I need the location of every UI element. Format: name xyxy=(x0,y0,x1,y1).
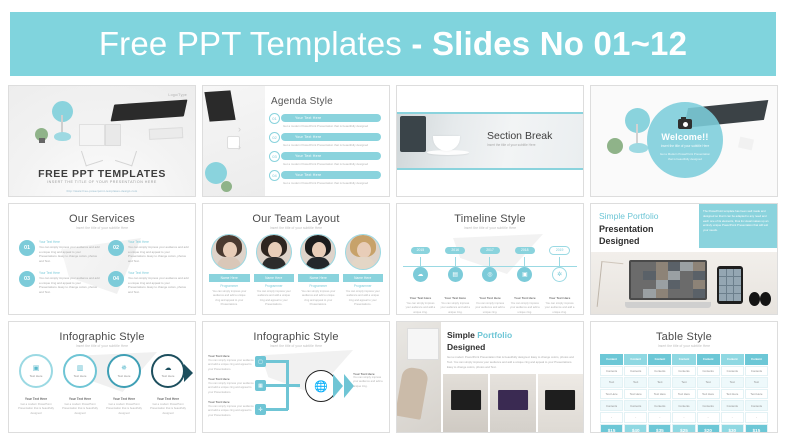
timeline-year: 2019 xyxy=(549,246,571,255)
coffee-machine-shape xyxy=(400,116,426,152)
agenda-label: Your Text Here xyxy=(281,133,381,141)
table-cell: Contents xyxy=(624,366,647,377)
infographic-label: Your Text Here xyxy=(147,397,189,401)
infographic-inner-text: Text Here xyxy=(74,374,87,378)
slide-title: Our Services xyxy=(9,213,195,225)
laptop-shape xyxy=(625,260,711,308)
table-price-cell: $15 Contents xyxy=(745,424,768,433)
service-number: 02 xyxy=(108,240,124,256)
agenda-number: 01 xyxy=(269,113,280,124)
cover-url: http://www.free-powerpoint-templates-des… xyxy=(9,189,195,193)
table-header-cell: Content xyxy=(672,354,695,365)
table-price-cell: $35 Contents xyxy=(648,424,671,433)
welcome-circle: Welcome!! Insert the title of your subti… xyxy=(647,102,723,178)
table-cell: Text xyxy=(697,377,720,388)
portfolio-thumb[interactable] xyxy=(490,374,535,432)
table-cell: Contents xyxy=(721,400,744,411)
portfolio-desc: Get a modern PowerPoint Presentation tha… xyxy=(447,355,577,369)
branch-desc: You can simply impress your audience and… xyxy=(208,405,256,418)
table-header-cell: Content xyxy=(745,354,768,365)
slide-title: Our Team Layout xyxy=(203,213,389,225)
timeline-stem xyxy=(420,257,421,267)
connector xyxy=(286,386,289,410)
timeline-label: Your Text Here xyxy=(542,296,577,300)
connector xyxy=(286,360,289,386)
infographic-item[interactable]: ✵ Text Here Your Text Here Get a modern … xyxy=(103,354,145,416)
table-cell: - xyxy=(672,412,695,423)
slide-thumbnail-welcome[interactable]: Welcome!! Insert the title of your subti… xyxy=(590,85,778,197)
timeline-stem xyxy=(559,257,560,267)
avatar xyxy=(256,234,292,270)
timeline-steps: 2015 ☁ Your Text Here You can simply imp… xyxy=(403,238,577,315)
member-desc: You can simply impress your audience and… xyxy=(254,290,295,307)
table-cell: Contents xyxy=(721,366,744,377)
chevron-right-icon: › xyxy=(238,124,241,134)
slide-thumbnail-our-services[interactable]: Our Services Insert the title of your su… xyxy=(8,203,196,315)
agenda-row[interactable]: Your Text Here 01 Get a modern PowerPoin… xyxy=(269,114,383,133)
timeline-desc: You can simply impress your audience and… xyxy=(403,302,438,315)
briefcase-icon: ▤ xyxy=(448,267,463,282)
table-cell: Contents xyxy=(745,366,768,377)
team-member[interactable]: Name Here Programmer You can simply impr… xyxy=(298,234,339,307)
chevron-right-icon-2: › xyxy=(238,142,241,152)
node-icon-1: ▢ xyxy=(255,356,266,367)
branch-right-item[interactable]: Your Text Here You can simply impress yo… xyxy=(353,372,385,389)
table-cell: - xyxy=(624,412,647,423)
table-cell: - xyxy=(745,412,768,423)
desk-scene xyxy=(591,252,777,314)
timeline-step[interactable]: 2015 ☁ Your Text Here You can simply imp… xyxy=(403,238,438,315)
member-name: Name Here xyxy=(343,274,384,282)
timeline-desc: You can simply impress your audience and… xyxy=(542,302,577,315)
connector xyxy=(266,360,288,363)
agenda-label: Your Text Here xyxy=(281,152,381,160)
slide-thumbnail-simple-portfolio[interactable]: The PowerPoint template has been well ma… xyxy=(590,203,778,315)
table-cell: Text Here xyxy=(721,389,744,400)
branch-decor xyxy=(597,261,624,309)
cloud-icon: ☁ xyxy=(165,365,172,372)
laptop-shape xyxy=(407,328,439,360)
table-cell: Contents xyxy=(624,400,647,411)
agenda-number: 03 xyxy=(269,151,280,162)
portfolio-thumb[interactable] xyxy=(443,374,488,432)
member-desc: You can simply impress your audience and… xyxy=(298,290,339,307)
timeline-label: Your Text Here xyxy=(473,296,508,300)
table-cell: Contents xyxy=(697,400,720,411)
slide-header: Table Style Insert the title of your sub… xyxy=(591,331,777,348)
infographic-inner-text: Text Here xyxy=(30,374,43,378)
avatar-face xyxy=(268,242,282,258)
window-icon: ▣ xyxy=(33,365,40,372)
table-cell: Text Here xyxy=(672,389,695,400)
table-price-cell: $15 Contents xyxy=(600,424,623,433)
hands-photo xyxy=(397,322,441,432)
timeline-label: Your Text Here xyxy=(507,296,542,300)
avatar xyxy=(345,234,381,270)
table-header-cell: Content xyxy=(624,354,647,365)
team-members: Name Here Programmer You can simply impr… xyxy=(209,234,383,307)
table-cell: Text xyxy=(672,377,695,388)
infographic-ring: ☁ Text Here xyxy=(151,354,185,388)
table-cell: Contents xyxy=(600,366,623,377)
timeline-step[interactable]: 2016 ▤ Your Text Here You can simply imp… xyxy=(438,238,473,315)
services-grid: 01 Your Text Here You can simply impress… xyxy=(19,240,189,294)
branch-item[interactable]: Your Text Here You can simply impress yo… xyxy=(208,354,256,372)
table-price-cell: $40 Contents xyxy=(624,424,647,433)
service-number: 01 xyxy=(19,240,35,256)
cloud-icon: ☁ xyxy=(413,267,428,282)
portfolio-title-line2: Designed xyxy=(447,342,485,352)
table-cell: - xyxy=(600,412,623,423)
agenda-row[interactable]: Your Text Here 02 Get a modern PowerPoin… xyxy=(269,133,383,152)
avatar-body xyxy=(217,257,241,269)
infographic-item[interactable]: ▥ Text Here Your Text Here Get a modern … xyxy=(59,354,101,416)
slide-title: Infographic Style xyxy=(9,331,195,343)
table-price-cell: $25 Contents xyxy=(672,424,695,433)
service-number: 04 xyxy=(108,271,124,287)
table-cell: Text Here xyxy=(697,389,720,400)
service-item[interactable]: 04 Your Text Here You can simply impress… xyxy=(108,271,189,294)
timeline-step[interactable]: 2018 ▣ Your Text Here You can simply imp… xyxy=(507,238,542,315)
table-cell: Text Here xyxy=(600,389,623,400)
plant-shape xyxy=(607,138,623,154)
table-cell: Text xyxy=(721,377,744,388)
agenda-desc: Get a modern PowerPoint Presentation tha… xyxy=(283,124,368,128)
agenda-number: 04 xyxy=(269,170,280,181)
plant-pot-shape xyxy=(39,138,45,143)
gear-icon: ✲ xyxy=(552,267,567,282)
table-price-cell: $20 Contents xyxy=(697,424,720,433)
portfolio-thumbnails xyxy=(443,374,583,432)
avatar xyxy=(300,234,336,270)
table-cell: Text Here xyxy=(624,389,647,400)
infographic-circle-row: ▣ Text Here Your Text Here Get a modern … xyxy=(15,354,189,416)
timeline-desc: You can simply impress your audience and… xyxy=(507,302,542,315)
welcome-desc: Get a Modern PowerPoint Presentation tha… xyxy=(658,152,712,161)
slides-grid: Logo/Type FREE PPT TEMPLATES INSERT THE … xyxy=(8,85,778,437)
team-member[interactable]: Name Here Programmer You can simply impr… xyxy=(209,234,250,307)
avatar xyxy=(211,234,247,270)
service-desc: You can simply impress your audience and… xyxy=(128,276,189,294)
agenda-photo xyxy=(203,86,265,196)
table-cell: Contents xyxy=(648,400,671,411)
table-cell: Text Here xyxy=(648,389,671,400)
agenda-rows: Your Text Here 01 Get a modern PowerPoin… xyxy=(269,114,383,190)
agenda-label: Your Text Here xyxy=(281,171,381,179)
welcome-title: Welcome!! xyxy=(661,132,708,142)
slide-thumbnail-timeline[interactable]: Timeline Style Insert the title of your … xyxy=(396,203,584,315)
hand-shape xyxy=(396,366,429,420)
table-cell: Contents xyxy=(672,366,695,377)
table-price-cell: $30 Contents xyxy=(721,424,744,433)
branch-left-items: Your Text Here You can simply impress yo… xyxy=(208,354,256,423)
slide-thumbnail-table-style[interactable]: Table Style Insert the title of your sub… xyxy=(590,321,778,433)
member-role: Programmer xyxy=(298,284,339,288)
node-icon-3: ✢ xyxy=(255,404,266,415)
infographic-item[interactable]: ☁ Text Here Your Text Here Get a modern … xyxy=(147,354,189,416)
infographic-ring: ▥ Text Here xyxy=(63,354,97,388)
notebook-shape xyxy=(79,124,105,146)
timeline-year: 2015 xyxy=(411,247,431,254)
timeline-step[interactable]: 2017 ◎ Your Text Here You can simply imp… xyxy=(473,238,508,315)
slide-thumbnail-section-break[interactable]: Section Break Insert the title of your s… xyxy=(396,85,584,197)
camera-icon xyxy=(678,119,692,129)
slide-subtitle: Insert the title of your subtitle Here xyxy=(9,226,195,230)
slide-thumbnail-team-layout[interactable]: Our Team Layout Insert the title of your… xyxy=(202,203,390,315)
table-cell: Text xyxy=(648,377,671,388)
binoculars-shape xyxy=(749,292,771,306)
avatar-body xyxy=(262,257,286,269)
welcome-subtitle: Insert the title of your subtitle Here xyxy=(661,144,710,148)
screen-shape xyxy=(498,390,528,410)
agenda-desc: Get a modern PowerPoint Presentation tha… xyxy=(283,181,368,185)
tablet-shape xyxy=(717,266,743,304)
portfolio-thumb[interactable] xyxy=(538,374,583,432)
portfolio-title-plain: Simple xyxy=(447,330,477,340)
monitor-shape xyxy=(204,90,235,121)
lamp-base-shape xyxy=(629,143,648,153)
table-cell: Contents xyxy=(745,400,768,411)
table-cell: Text Here xyxy=(745,389,768,400)
monitor-icon: ▣ xyxy=(517,267,532,282)
slide-thumbnail-agenda[interactable]: › › Agenda Style Your Text Here 01 Get a… xyxy=(202,85,390,197)
branch-desc: You can simply impress your audience and… xyxy=(208,359,256,372)
timeline-stem xyxy=(489,257,490,267)
member-role: Programmer xyxy=(343,284,384,288)
branch-label: Your Text Here xyxy=(208,377,256,381)
slide-subtitle: Insert the title of your subtitle Here xyxy=(203,344,389,348)
globe-icon: 🌐 xyxy=(314,380,328,393)
service-label: Your Text Here xyxy=(128,240,189,244)
service-item[interactable]: 03 Your Text Here You can simply impress… xyxy=(19,271,100,294)
node-icon-2: ▦ xyxy=(255,380,266,391)
service-desc: You can simply impress your audience and… xyxy=(39,245,100,263)
panel-text: The PowerPoint template has been well ma… xyxy=(703,209,773,233)
target-icon: ◎ xyxy=(482,267,497,282)
banner-title: Free PPT Templates - Slides No 01~12 xyxy=(99,25,687,63)
service-item[interactable]: 02 Your Text Here You can simply impress… xyxy=(108,240,189,263)
slide-subtitle: Insert the title of your subtitle Here xyxy=(591,344,777,348)
portfolio-title-accent: Portfolio xyxy=(477,330,512,340)
branch-item[interactable]: Your Text Here You can simply impress yo… xyxy=(208,400,256,418)
agenda-label: Your Text Here xyxy=(281,114,381,122)
slide-subtitle: Insert the title of your subtitle Here xyxy=(9,344,195,348)
table-cell: Text xyxy=(745,377,768,388)
team-member[interactable]: Name Here Programmer You can simply impr… xyxy=(343,234,384,307)
service-item[interactable]: 01 Your Text Here You can simply impress… xyxy=(19,240,100,263)
table-cell: - xyxy=(721,412,744,423)
slide-title: Timeline Style xyxy=(397,213,583,225)
infographic-ring: ✵ Text Here xyxy=(107,354,141,388)
team-member[interactable]: Name Here Programmer You can simply impr… xyxy=(254,234,295,307)
tablet-screen xyxy=(719,269,741,301)
agenda-number: 02 xyxy=(269,132,280,143)
plant-shape xyxy=(221,181,232,192)
infographic-ring: ▣ Text Here xyxy=(19,354,53,388)
timeline-stem xyxy=(524,257,525,267)
portfolio-title-line3: Designed xyxy=(599,236,640,246)
notebook-shape-2 xyxy=(105,124,121,146)
slide-title: Section Break xyxy=(487,130,552,142)
agenda-desc: Get a modern PowerPoint Presentation tha… xyxy=(283,162,368,166)
paper-shape xyxy=(738,137,754,151)
connector xyxy=(266,408,288,411)
branch-label: Your Text Here xyxy=(208,354,256,358)
portfolio-title-line2: Presentation xyxy=(599,224,654,234)
table-header-cell: Content xyxy=(648,354,671,365)
slide-header: Infographic Style Insert the title of yo… xyxy=(203,331,389,348)
branch-label: Your Text Here xyxy=(208,400,256,404)
infographic-desc: Get a modern PowerPoint Presentation tha… xyxy=(147,403,189,416)
cover-subtitle: INSERT THE TITLE OF YOUR PRESENTATION HE… xyxy=(9,180,195,184)
table-header-cell: Content xyxy=(600,354,623,365)
columns-icon: ▥ xyxy=(77,365,84,372)
pricing-table: Content Content Content Content Content … xyxy=(600,354,768,433)
infographic-label: Your Text Here xyxy=(15,397,57,401)
service-label: Your Text Here xyxy=(128,271,189,275)
timeline-year: 2017 xyxy=(480,247,500,254)
screen-shape xyxy=(451,390,481,410)
slide-header: Our Team Layout Insert the title of your… xyxy=(203,213,389,230)
portfolio-title-line1: Simple Portfolio xyxy=(447,330,512,340)
slide-subtitle: Insert the title of your subtitle Here xyxy=(203,226,389,230)
slide-header: Timeline Style Insert the title of your … xyxy=(397,213,583,230)
member-desc: You can simply impress your audience and… xyxy=(209,290,250,307)
header-banner: Free PPT Templates - Slides No 01~12 xyxy=(10,12,776,76)
agenda-row[interactable]: Your Text Here 04 Get a modern PowerPoin… xyxy=(269,171,383,190)
cover-title: FREE PPT TEMPLATES xyxy=(9,168,195,180)
table-header-cell: Content xyxy=(721,354,744,365)
atom-icon: ✵ xyxy=(121,365,127,372)
timeline-label: Your Text Here xyxy=(438,296,473,300)
infographic-inner-text: Text Here xyxy=(118,374,131,378)
service-desc: You can simply impress your audience and… xyxy=(128,245,189,263)
table-cell: - xyxy=(648,412,671,423)
table-cell: Contents xyxy=(600,400,623,411)
infographic-item[interactable]: ▣ Text Here Your Text Here Get a modern … xyxy=(15,354,57,416)
table-cell: Contents xyxy=(697,366,720,377)
portfolio-title-accent: Simple Portfolio xyxy=(599,211,659,221)
branch-item[interactable]: Your Text Here You can simply impress yo… xyxy=(208,377,256,395)
avatar-body xyxy=(306,257,330,269)
agenda-row[interactable]: Your Text Here 03 Get a modern PowerPoin… xyxy=(269,152,383,171)
avatar-body xyxy=(351,257,375,269)
infographic-label: Your Text Here xyxy=(103,397,145,401)
slide-thumbnail-cover[interactable]: Logo/Type FREE PPT TEMPLATES INSERT THE … xyxy=(8,85,196,197)
gallery-page: Free PPT Templates - Slides No 01~12 Log… xyxy=(0,0,786,445)
member-name: Name Here xyxy=(209,274,250,282)
slide-thumbnail-portfolio-designed[interactable]: Simple Portfolio Designed Get a modern P… xyxy=(396,321,584,433)
timeline-year: 2016 xyxy=(445,247,465,254)
service-label: Your Text Here xyxy=(39,271,100,275)
connector xyxy=(266,384,300,387)
timeline-stem xyxy=(455,257,456,267)
member-name: Name Here xyxy=(298,274,339,282)
logotype-label: Logo/Type xyxy=(168,93,187,97)
timeline-desc: You can simply impress your audience and… xyxy=(473,302,508,315)
slide-title: Infographic Style xyxy=(203,331,389,343)
slide-thumbnail-infographic-branch[interactable]: Infographic Style Insert the title of yo… xyxy=(202,321,390,433)
agenda-desc: Get a modern PowerPoint Presentation tha… xyxy=(283,143,368,147)
service-desc: You can simply impress your audience and… xyxy=(39,276,100,294)
banner-title-bold: - Slides No 01~12 xyxy=(402,25,687,62)
table-cell: Text xyxy=(624,377,647,388)
member-name: Name Here xyxy=(254,274,295,282)
member-desc: You can simply impress your audience and… xyxy=(343,290,384,307)
table-cell: Text xyxy=(600,377,623,388)
infographic-desc: Get a modern PowerPoint Presentation tha… xyxy=(103,403,145,416)
lamp-base-shape xyxy=(54,132,71,141)
timeline-step[interactable]: 2019 ✲ Your Text Here You can simply imp… xyxy=(542,238,577,315)
avatar-face xyxy=(357,242,371,258)
slide-title: Table Style xyxy=(591,331,777,343)
table-cell: Contents xyxy=(648,366,671,377)
timeline-year: 2018 xyxy=(515,247,535,254)
timeline-label: Your Text Here xyxy=(403,296,438,300)
screen-shape xyxy=(545,390,575,410)
slide-header: Our Services Insert the title of your su… xyxy=(9,213,195,230)
slide-thumbnail-infographic-circles[interactable]: Infographic Style Insert the title of yo… xyxy=(8,321,196,433)
slide-header: Infographic Style Insert the title of yo… xyxy=(9,331,195,348)
table-cell: Contents xyxy=(672,400,695,411)
timeline-desc: You can simply impress your audience and… xyxy=(438,302,473,315)
service-label: Your Text Here xyxy=(39,240,100,244)
infographic-inner-text: Text Here xyxy=(162,374,175,378)
table-cell: - xyxy=(697,412,720,423)
branch-desc: You can simply impress your audience and… xyxy=(353,376,385,389)
infographic-desc: Get a modern PowerPoint Presentation tha… xyxy=(15,403,57,416)
slide-title: Agenda Style xyxy=(271,96,333,107)
slide-subtitle: Insert the title of your subtitle Here xyxy=(397,226,583,230)
member-role: Programmer xyxy=(254,284,295,288)
laptop-screen xyxy=(629,260,707,300)
table-header-cell: Content xyxy=(697,354,720,365)
service-number: 03 xyxy=(19,271,35,287)
branch-desc: You can simply impress your audience and… xyxy=(208,382,256,395)
chevron-right-icon xyxy=(333,374,343,398)
laptop-base xyxy=(625,302,711,308)
infographic-label: Your Text Here xyxy=(59,397,101,401)
banner-title-plain: Free PPT Templates xyxy=(99,25,402,62)
member-role: Programmer xyxy=(209,284,250,288)
slide-subtitle: Insert the title of your subtitle Here xyxy=(487,143,536,147)
keyboard-shape xyxy=(149,127,184,140)
infographic-desc: Get a modern PowerPoint Presentation tha… xyxy=(59,403,101,416)
